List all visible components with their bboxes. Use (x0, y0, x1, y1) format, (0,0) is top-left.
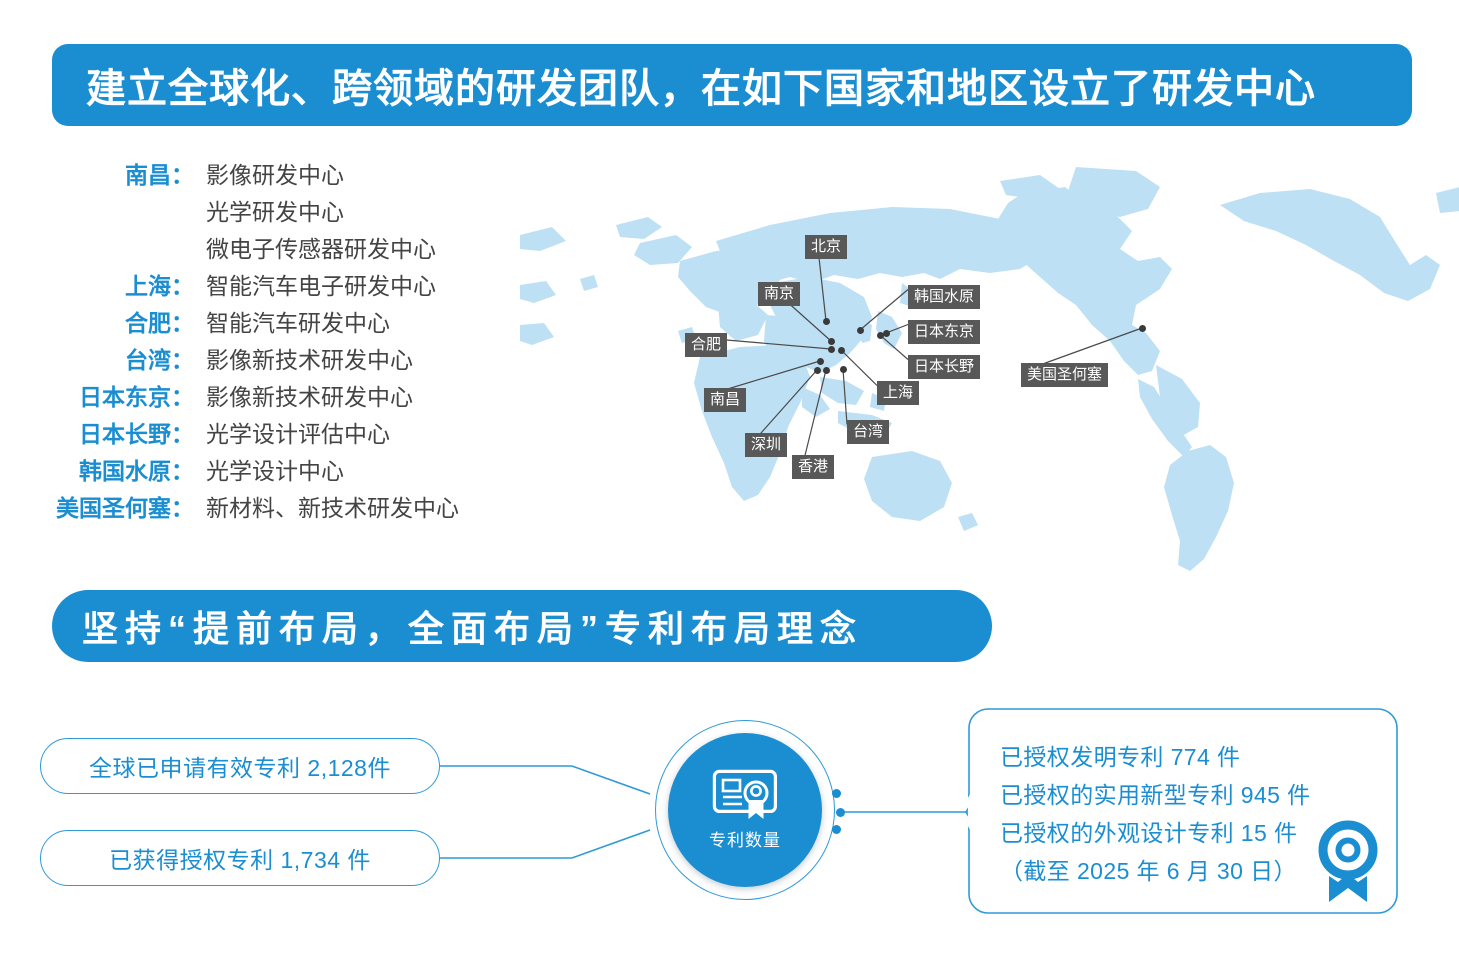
map-dot-7 (838, 347, 845, 354)
world-map-shapes (520, 165, 1459, 575)
rd-center-city: 南昌： (44, 156, 198, 190)
rd-center-city: 台湾： (44, 341, 198, 375)
rd-center-name: 光学设计评估中心 (198, 415, 390, 449)
map-label-0[interactable]: 北京 (805, 235, 847, 259)
pill-granted-patents[interactable]: 已获得授权专利 1,734 件 (40, 830, 440, 886)
rd-center-row: 光学研发中心 (44, 193, 494, 230)
medal-icon (1316, 820, 1380, 904)
rd-center-list: 南昌：影像研发中心光学研发中心微电子传感器研发中心上海：智能汽车电子研发中心合肥… (44, 156, 494, 526)
connector-node-bottom (832, 825, 841, 834)
map-dot-11 (1139, 325, 1146, 332)
patent-diagram: 全球已申请有效专利 2,128件 已获得授权专利 1,734 件 专利数量 (0, 690, 1459, 950)
connector-node-right (836, 808, 845, 817)
banner-mid-text: 坚持“提前布局，全面布局”专利布局理念 (82, 600, 863, 652)
map-label-4[interactable]: 深圳 (745, 433, 787, 457)
map-label-7[interactable]: 上海 (877, 381, 919, 405)
banner-global-rd-team: 建立全球化、跨领域的研发团队，在如下国家和地区设立了研发中心 (52, 44, 1412, 126)
map-dot-10 (877, 332, 884, 339)
rd-center-row: 日本长野：光学设计评估中心 (44, 415, 494, 452)
rd-center-city: 日本东京： (44, 378, 198, 412)
rd-center-city: 日本长野： (44, 415, 198, 449)
map-dot-2 (828, 346, 835, 353)
rd-center-row: 台湾：影像新技术研发中心 (44, 341, 494, 378)
patent-breakdown-text: 已授权发明专利 774 件已授权的实用新型专利 945 件已授权的外观设计专利 … (1000, 738, 1311, 890)
banner-top-text: 建立全球化、跨领域的研发团队，在如下国家和地区设立了研发中心 (86, 56, 1316, 114)
rd-center-name: 智能汽车电子研发中心 (198, 267, 436, 301)
pill-applied-label: 全球已申请有效专利 2,128件 (89, 749, 391, 783)
rd-center-row: 美国圣何塞：新材料、新技术研发中心 (44, 489, 494, 526)
map-label-1[interactable]: 南京 (758, 282, 800, 306)
map-dot-6 (840, 366, 847, 373)
rd-center-row: 合肥：智能汽车研发中心 (44, 304, 494, 341)
world-map: 北京南京合肥南昌深圳香港台湾上海韩国水原日本东京日本长野美国圣何塞 (520, 165, 1459, 575)
patent-breakdown-line: 已授权发明专利 774 件 (1000, 738, 1311, 776)
map-dot-5 (823, 367, 830, 374)
rd-center-name: 新材料、新技术研发中心 (198, 489, 459, 523)
map-dot-4 (814, 367, 821, 374)
map-label-5[interactable]: 香港 (792, 455, 834, 479)
map-dot-3 (817, 358, 824, 365)
patent-count-badge[interactable]: 专利数量 (668, 733, 822, 887)
patent-breakdown-panel[interactable]: 已授权发明专利 774 件已授权的实用新型专利 945 件已授权的外观设计专利 … (968, 708, 1398, 914)
rd-center-city: 合肥： (44, 304, 198, 338)
map-label-11[interactable]: 美国圣何塞 (1021, 363, 1108, 387)
map-label-3[interactable]: 南昌 (704, 388, 746, 412)
infographic-page: 建立全球化、跨领域的研发团队，在如下国家和地区设立了研发中心 南昌：影像研发中心… (0, 0, 1459, 973)
map-dot-9 (883, 330, 890, 337)
map-label-10[interactable]: 日本长野 (908, 355, 980, 379)
rd-center-row: 日本东京：影像新技术研发中心 (44, 378, 494, 415)
rd-center-city: 上海： (44, 267, 198, 301)
map-dot-0 (823, 318, 830, 325)
patent-breakdown-line: 已授权的实用新型专利 945 件 (1000, 776, 1311, 814)
map-label-6[interactable]: 台湾 (847, 420, 889, 444)
pill-granted-label: 已获得授权专利 1,734 件 (109, 841, 371, 875)
map-label-9[interactable]: 日本东京 (908, 320, 980, 344)
rd-center-name: 智能汽车研发中心 (198, 304, 390, 338)
patent-breakdown-line: 已授权的外观设计专利 15 件 (1000, 814, 1311, 852)
rd-center-name: 光学设计中心 (198, 452, 344, 486)
map-dot-8 (857, 327, 864, 334)
connector-node-top (832, 789, 841, 798)
rd-center-name: 微电子传感器研发中心 (198, 230, 436, 264)
map-label-8[interactable]: 韩国水原 (908, 285, 980, 309)
rd-center-row: 韩国水原：光学设计中心 (44, 452, 494, 489)
rd-center-name: 影像新技术研发中心 (198, 378, 413, 412)
rd-center-row: 上海：智能汽车电子研发中心 (44, 267, 494, 304)
patent-count-label: 专利数量 (709, 826, 781, 851)
rd-center-name: 影像研发中心 (198, 156, 344, 190)
banner-patent-philosophy: 坚持“提前布局，全面布局”专利布局理念 (52, 590, 992, 662)
patent-breakdown-line: （截至 2025 年 6 月 30 日） (1000, 852, 1311, 890)
rd-center-name: 影像新技术研发中心 (198, 341, 413, 375)
map-dot-1 (828, 338, 835, 345)
rd-center-city: 韩国水原： (44, 452, 198, 486)
pill-applied-patents[interactable]: 全球已申请有效专利 2,128件 (40, 738, 440, 794)
rd-center-name: 光学研发中心 (198, 193, 344, 227)
rd-center-row: 南昌：影像研发中心 (44, 156, 494, 193)
map-label-2[interactable]: 合肥 (685, 333, 727, 357)
rd-center-city: 美国圣何塞： (44, 489, 198, 523)
certificate-icon (712, 769, 778, 821)
rd-center-row: 微电子传感器研发中心 (44, 230, 494, 267)
